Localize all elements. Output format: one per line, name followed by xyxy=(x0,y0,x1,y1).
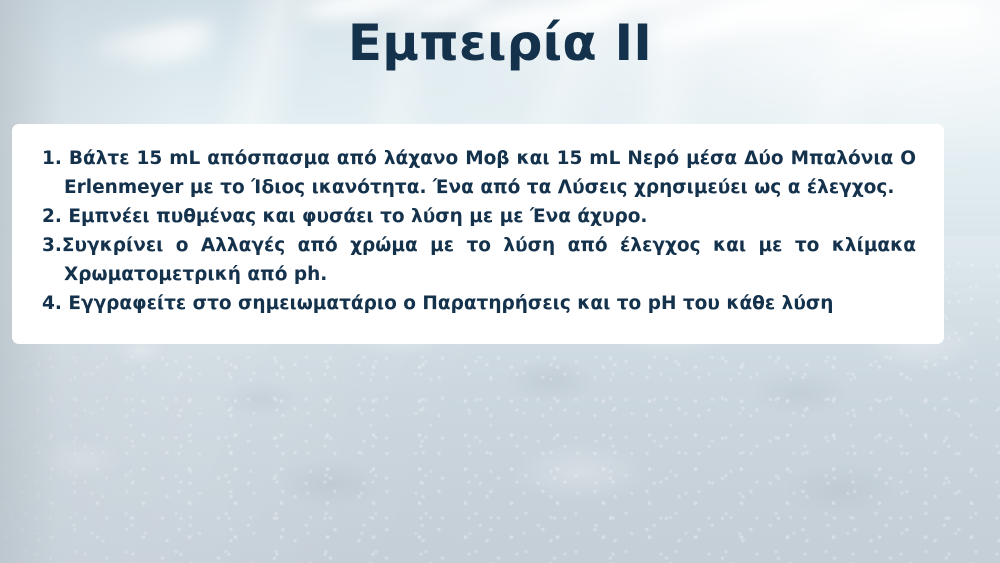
list-item-marker: 1. xyxy=(42,148,69,169)
list-item-marker: 3. xyxy=(42,235,62,256)
procedure-list: 1. Βάλτε 15 mL απόσπασμα από λάχανο Μοβ … xyxy=(42,144,916,318)
list-item-marker: 2. xyxy=(42,206,68,227)
slide-canvas: Εμπειρία II 1. Βάλτε 15 mL απόσπασμα από… xyxy=(0,0,1000,563)
list-item: 3.Συγκρίνει ο Αλλαγές από χρώμα με το λύ… xyxy=(42,231,916,289)
list-item-text: Βάλτε 15 mL απόσπασμα από λάχανο Μοβ και… xyxy=(64,148,916,198)
list-item: 1. Βάλτε 15 mL απόσπασμα από λάχανο Μοβ … xyxy=(42,144,916,202)
list-item-text: Συγκρίνει ο Αλλαγές από χρώμα με το λύση… xyxy=(62,235,916,285)
slide-title: Εμπειρία II xyxy=(0,16,1000,71)
list-item: 2. Εμπνέει πυθμένας και φυσάει το λύση μ… xyxy=(42,202,916,231)
list-item-marker: 4. xyxy=(42,293,68,314)
list-item: 4. Εγγραφείτε στο σημειωματάριο ο Παρατη… xyxy=(42,289,916,318)
list-item-text: Εμπνέει πυθμένας και φυσάει το λύση με μ… xyxy=(68,206,647,227)
list-item-text: Εγγραφείτε στο σημειωματάριο ο Παρατηρήσ… xyxy=(68,293,833,314)
